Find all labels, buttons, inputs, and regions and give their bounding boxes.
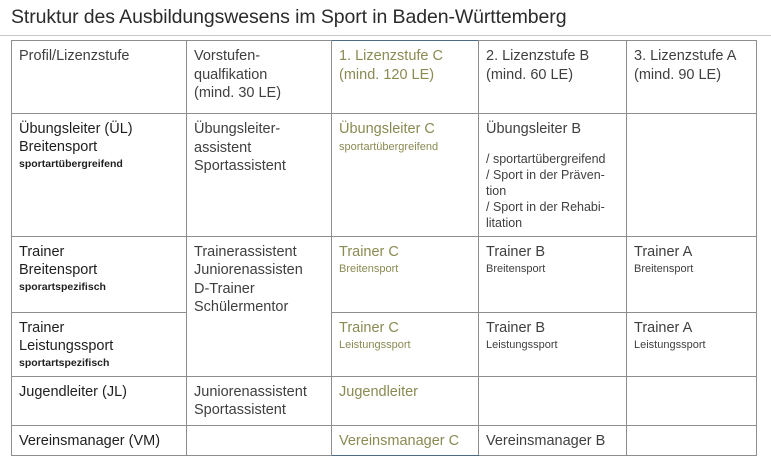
header-cell-vorstufe: Vorstufen- qualfikation (mind. 30 LE) <box>187 41 332 114</box>
profil-uebungsleiter-sub: sportartübergreifend <box>19 158 179 171</box>
profil-trainer-leistungssport-line1: Trainer <box>19 319 179 337</box>
header-label-profil: Profil/Lizenzstufe <box>19 47 179 65</box>
profil-uebungsleiter-line1: Übungsleiter (ÜL) <box>19 120 179 138</box>
table-row-trainer-leistungssport: Trainer Leistungssport sportartspezifisc… <box>12 312 757 376</box>
cell-profil-uebungsleiter: Übungsleiter (ÜL) Breitensport sportartü… <box>12 114 187 237</box>
cell-vorstufe-uebungsleiter: Übungsleiter- assistent Sportassistent <box>187 114 332 237</box>
cell-profil-trainer-leistungssport: Trainer Leistungssport sportartspezifisc… <box>12 312 187 376</box>
vorstufe-trainer-line1: Trainerassistent <box>194 243 324 262</box>
cell-vorstufe-jugendleiter: Juniorenassistent Sportassistent <box>187 376 332 425</box>
stufe-b-trainer-breitensport-main: Trainer B <box>486 243 619 262</box>
stufe-b-trainer-leistungssport-sub: Leistungssport <box>486 338 619 352</box>
header-label-stufe-a-line1: 3. Lizenzstufe A <box>634 47 749 66</box>
stufe-c-jugendleiter-main: Jugendleiter <box>339 383 471 402</box>
profil-trainer-breitensport-line2: Breitensport <box>19 261 179 279</box>
stufe-a-trainer-breitensport-sub: Breitensport <box>634 262 749 276</box>
list-item: / Sport in der Präven- <box>486 167 619 183</box>
profil-vereinsmanager-line1: Vereinsmanager (VM) <box>19 432 179 450</box>
cell-stufe-b-jugendleiter <box>479 376 627 425</box>
stufe-c-uebungsleiter-main: Übungsleiter C <box>339 120 471 139</box>
vorstufe-jugendleiter-line2: Sportassistent <box>194 401 324 420</box>
qualification-matrix-table: Profil/Lizenzstufe Vorstufen- qualfikati… <box>11 40 757 456</box>
cell-vorstufe-vereinsmanager <box>187 425 332 456</box>
page-root: Struktur des Ausbildungswesens im Sport … <box>0 0 771 454</box>
cell-profil-vereinsmanager: Vereinsmanager (VM) <box>12 425 187 456</box>
cell-stufe-c-trainer-leistungssport: Trainer C Leistungssport <box>332 312 479 376</box>
cell-stufe-b-trainer-breitensport: Trainer B Breitensport <box>479 236 627 312</box>
stufe-a-trainer-leistungssport-main: Trainer A <box>634 319 749 338</box>
vorstufe-trainer-line3: D-Trainer <box>194 280 324 299</box>
profil-trainer-breitensport-line1: Trainer <box>19 243 179 261</box>
header-cell-profil: Profil/Lizenzstufe <box>12 41 187 114</box>
header-label-stufe-c-line2: (mind. 120 LE) <box>339 66 471 85</box>
header-cell-lizenzstufe-a: 3. Lizenzstufe A (mind. 90 LE) <box>627 41 757 114</box>
cell-stufe-c-trainer-breitensport: Trainer C Breitensport <box>332 236 479 312</box>
cell-stufe-b-uebungsleiter: Übungsleiter B / sportartübergreifend / … <box>479 114 627 237</box>
header-label-vorstufe-line1: Vorstufen- <box>194 47 324 66</box>
stufe-c-trainer-leistungssport-sub: Leistungssport <box>339 338 471 352</box>
stufe-c-trainer-breitensport-main: Trainer C <box>339 243 471 262</box>
header-label-stufe-c-line1: 1. Lizenzstufe C <box>339 47 471 66</box>
profil-trainer-leistungssport-sub: sportartspezifisch <box>19 357 179 370</box>
cell-vorstufe-trainer-merged: Trainerassistent Juniorenassisten D-Trai… <box>187 236 332 376</box>
cell-stufe-b-trainer-leistungssport: Trainer B Leistungssport <box>479 312 627 376</box>
list-item: / sportartübergreifend <box>486 151 619 167</box>
cell-stufe-c-vereinsmanager: Vereinsmanager C <box>332 425 479 456</box>
list-item: litation <box>486 215 619 231</box>
stufe-b-uebungsleiter-list: / sportartübergreifend / Sport in der Pr… <box>486 151 619 231</box>
cell-stufe-b-vereinsmanager: Vereinsmanager B <box>479 425 627 456</box>
cell-stufe-c-jugendleiter: Jugendleiter <box>332 376 479 425</box>
header-label-stufe-b-line2: (mind. 60 LE) <box>486 66 619 85</box>
page-title: Struktur des Ausbildungswesens im Sport … <box>11 6 566 29</box>
list-item: / Sport in der Rehabi- <box>486 199 619 215</box>
vorstufe-trainer-line4: Schülermentor <box>194 298 324 317</box>
header-label-stufe-a-line2: (mind. 90 LE) <box>634 66 749 85</box>
stufe-c-trainer-leistungssport-main: Trainer C <box>339 319 471 338</box>
stufe-b-trainer-leistungssport-main: Trainer B <box>486 319 619 338</box>
vorstufe-jugendleiter-line1: Juniorenassistent <box>194 383 324 402</box>
table-row-trainer-breitensport: Trainer Breitensport sporartspezifisch T… <box>12 236 757 312</box>
stufe-c-vereinsmanager-main: Vereinsmanager C <box>339 432 471 451</box>
table-header-row: Profil/Lizenzstufe Vorstufen- qualfikati… <box>12 41 757 114</box>
stufe-a-trainer-breitensport-main: Trainer A <box>634 243 749 262</box>
stufe-a-trainer-leistungssport-sub: Leistungssport <box>634 338 749 352</box>
table-row-uebungsleiter: Übungsleiter (ÜL) Breitensport sportartü… <box>12 114 757 237</box>
cell-profil-trainer-breitensport: Trainer Breitensport sporartspezifisch <box>12 236 187 312</box>
table-row-vereinsmanager: Vereinsmanager (VM) Vereinsmanager C Ver… <box>12 425 757 456</box>
cell-stufe-a-jugendleiter <box>627 376 757 425</box>
stufe-b-uebungsleiter-main: Übungsleiter B <box>486 120 619 139</box>
header-label-vorstufe-line3: (mind. 30 LE) <box>194 84 324 103</box>
header-cell-lizenzstufe-c: 1. Lizenzstufe C (mind. 120 LE) <box>332 41 479 114</box>
table-row-jugendleiter: Jugendleiter (JL) Juniorenassistent Spor… <box>12 376 757 425</box>
stufe-c-trainer-breitensport-sub: Breitensport <box>339 262 471 276</box>
vorstufe-uebungsleiter-line3: Sportassistent <box>194 157 324 176</box>
stufe-b-vereinsmanager-main: Vereinsmanager B <box>486 432 619 451</box>
cell-stufe-a-vereinsmanager <box>627 425 757 456</box>
header-label-vorstufe-line2: qualfikation <box>194 66 324 85</box>
page-title-bar: Struktur des Ausbildungswesens im Sport … <box>0 0 771 36</box>
vorstufe-uebungsleiter-line1: Übungsleiter- <box>194 120 324 139</box>
cell-stufe-a-trainer-breitensport: Trainer A Breitensport <box>627 236 757 312</box>
profil-jugendleiter-line1: Jugendleiter (JL) <box>19 383 179 401</box>
cell-profil-jugendleiter: Jugendleiter (JL) <box>12 376 187 425</box>
header-label-stufe-b-line1: 2. Lizenzstufe B <box>486 47 619 66</box>
stufe-b-trainer-breitensport-sub: Breitensport <box>486 262 619 276</box>
cell-stufe-c-uebungsleiter: Übungsleiter C sportartübergreifend <box>332 114 479 237</box>
profil-trainer-leistungssport-line2: Leistungssport <box>19 337 179 355</box>
vorstufe-trainer-line2: Juniorenassisten <box>194 261 324 280</box>
profil-uebungsleiter-line2: Breitensport <box>19 138 179 156</box>
profil-trainer-breitensport-sub: sporartspezifisch <box>19 281 179 294</box>
vorstufe-uebungsleiter-line2: assistent <box>194 139 324 158</box>
cell-stufe-a-trainer-leistungssport: Trainer A Leistungssport <box>627 312 757 376</box>
list-item: tion <box>486 183 619 199</box>
header-cell-lizenzstufe-b: 2. Lizenzstufe B (mind. 60 LE) <box>479 41 627 114</box>
stufe-c-uebungsleiter-sub: sportartübergreifend <box>339 140 471 154</box>
cell-stufe-a-uebungsleiter <box>627 114 757 237</box>
